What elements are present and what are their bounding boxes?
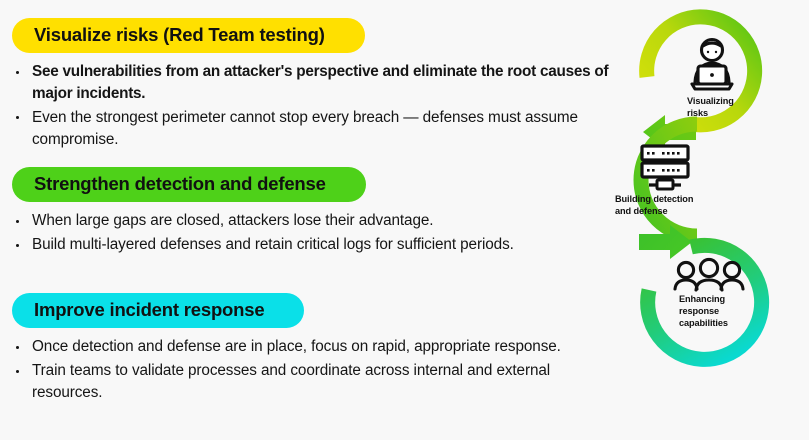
bullet-dot-icon	[16, 244, 19, 247]
bullet-dot-icon	[16, 116, 19, 119]
bullet-text: When large gaps are closed, attackers lo…	[32, 212, 433, 229]
diagram-label-visualizing-risks: Visualizingrisks	[687, 96, 767, 120]
list-item: When large gaps are closed, attackers lo…	[12, 210, 610, 232]
three-people-icon	[675, 259, 743, 290]
bullet-text: Even the strongest perimeter cannot stop…	[32, 109, 578, 148]
bullet-dot-icon	[16, 220, 19, 223]
list-item: Build multi-layered defenses and retain …	[12, 234, 610, 256]
list-item: Train teams to validate processes and co…	[12, 360, 610, 404]
section-heading-pill-visualize-risks: Visualize risks (Red Team testing)	[12, 18, 365, 53]
slide-canvas: Visualize risks (Red Team testing) See v…	[0, 0, 809, 440]
cycle-diagram-graphic	[609, 0, 809, 440]
diagram-node-building-detection	[641, 124, 697, 236]
list-item: Even the strongest perimeter cannot stop…	[12, 107, 610, 151]
person-at-laptop-icon	[692, 40, 732, 90]
bullet-text: See vulnerabilities from an attacker's p…	[32, 63, 608, 102]
section-improve-incident-response: Improve incident response Once detection…	[0, 293, 610, 404]
section-strengthen-detection: Strengthen detection and defense When la…	[0, 167, 610, 256]
section-heading-pill-improve-incident-response: Improve incident response	[12, 293, 304, 328]
diagram-label-enhancing-response: Enhancingresponsecapabilities	[679, 294, 775, 329]
bullet-dot-icon	[16, 346, 19, 349]
bullet-text: Once detection and defense are in place,…	[32, 338, 561, 355]
bullet-text: Build multi-layered defenses and retain …	[32, 236, 514, 253]
bullet-list-visualize-risks: See vulnerabilities from an attacker's p…	[0, 61, 610, 150]
bullet-dot-icon	[16, 71, 19, 74]
bullet-list-improve-incident-response: Once detection and defense are in place,…	[0, 336, 610, 404]
list-item: Once detection and defense are in place,…	[12, 336, 610, 358]
content-column: Visualize risks (Red Team testing) See v…	[0, 0, 610, 440]
diagram-label-building-detection: Building detectionand defense	[615, 194, 745, 218]
section-visualize-risks: Visualize risks (Red Team testing) See v…	[0, 18, 610, 151]
list-item: See vulnerabilities from an attacker's p…	[12, 61, 610, 105]
cycle-diagram: Visualizingrisks Building detectionand d…	[609, 0, 809, 440]
bullet-dot-icon	[16, 370, 19, 373]
bullet-list-strengthen-detection: When large gaps are closed, attackers lo…	[0, 210, 610, 256]
server-rack-icon	[642, 146, 688, 189]
bullet-text: Train teams to validate processes and co…	[32, 362, 550, 401]
section-heading-pill-strengthen-detection: Strengthen detection and defense	[12, 167, 366, 202]
